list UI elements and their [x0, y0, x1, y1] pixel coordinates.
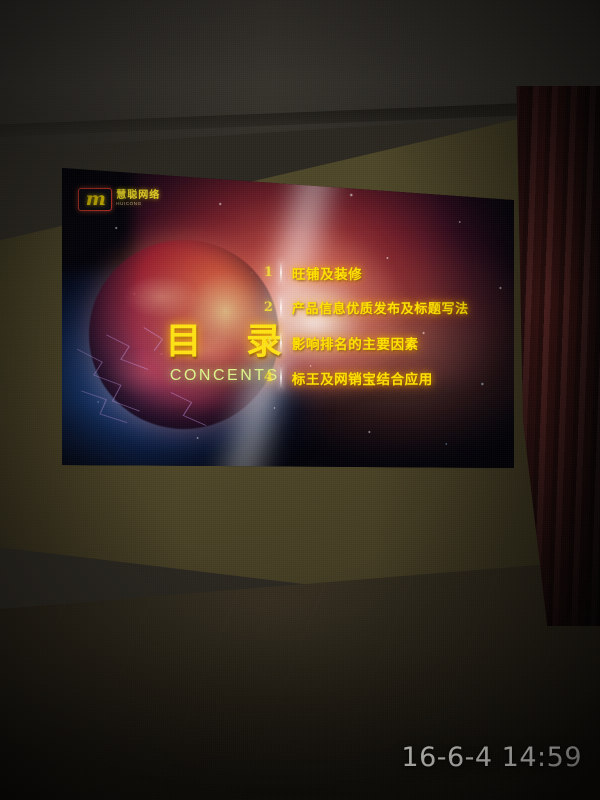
agenda-divider	[280, 260, 282, 285]
agenda-item-number: 3	[261, 335, 276, 350]
photograph: m 慧聪网络 HUICONG 目 录 CONCENTS 1 旺铺及装修	[0, 0, 600, 800]
agenda-divider	[280, 295, 282, 320]
agenda-item-number: 4	[261, 370, 276, 385]
agenda-item-label: 产品信息优质发布及标题写法	[292, 298, 469, 317]
projection-screen: m 慧聪网络 HUICONG 目 录 CONCENTS 1 旺铺及装修	[62, 168, 514, 468]
agenda-divider	[280, 330, 282, 355]
logo-mark-icon: m	[78, 188, 112, 211]
agenda-item-number: 1	[261, 265, 276, 280]
agenda-item: 3 影响排名的主要因素	[261, 328, 514, 357]
agenda-item-number: 2	[261, 300, 276, 315]
agenda-item: 4 标王及网销宝结合应用	[261, 363, 514, 392]
agenda-item-label: 标王及网销宝结合应用	[292, 368, 433, 388]
agenda-item-label: 旺铺及装修	[292, 263, 363, 283]
logo-brand-text: 慧聪网络 HUICONG	[116, 191, 160, 206]
camera-timestamp: 16-6-4 14:59	[401, 742, 582, 773]
agenda-item-label: 影响排名的主要因素	[292, 333, 419, 353]
agenda-item: 1 旺铺及装修	[261, 258, 514, 287]
agenda-item: 2 产品信息优质发布及标题写法	[261, 293, 514, 322]
logo-mark-letter: m	[86, 190, 105, 209]
presentation-slide: m 慧聪网络 HUICONG 目 录 CONCENTS 1 旺铺及装修	[62, 168, 514, 468]
logo-brand-zh: 慧聪网络	[116, 190, 160, 201]
agenda-list: 1 旺铺及装修 2 产品信息优质发布及标题写法 3 影响排名的主要因素 4	[261, 258, 514, 398]
brand-logo: m 慧聪网络 HUICONG	[78, 188, 160, 211]
agenda-divider	[280, 365, 282, 390]
logo-brand-sub: HUICONG	[116, 202, 160, 207]
